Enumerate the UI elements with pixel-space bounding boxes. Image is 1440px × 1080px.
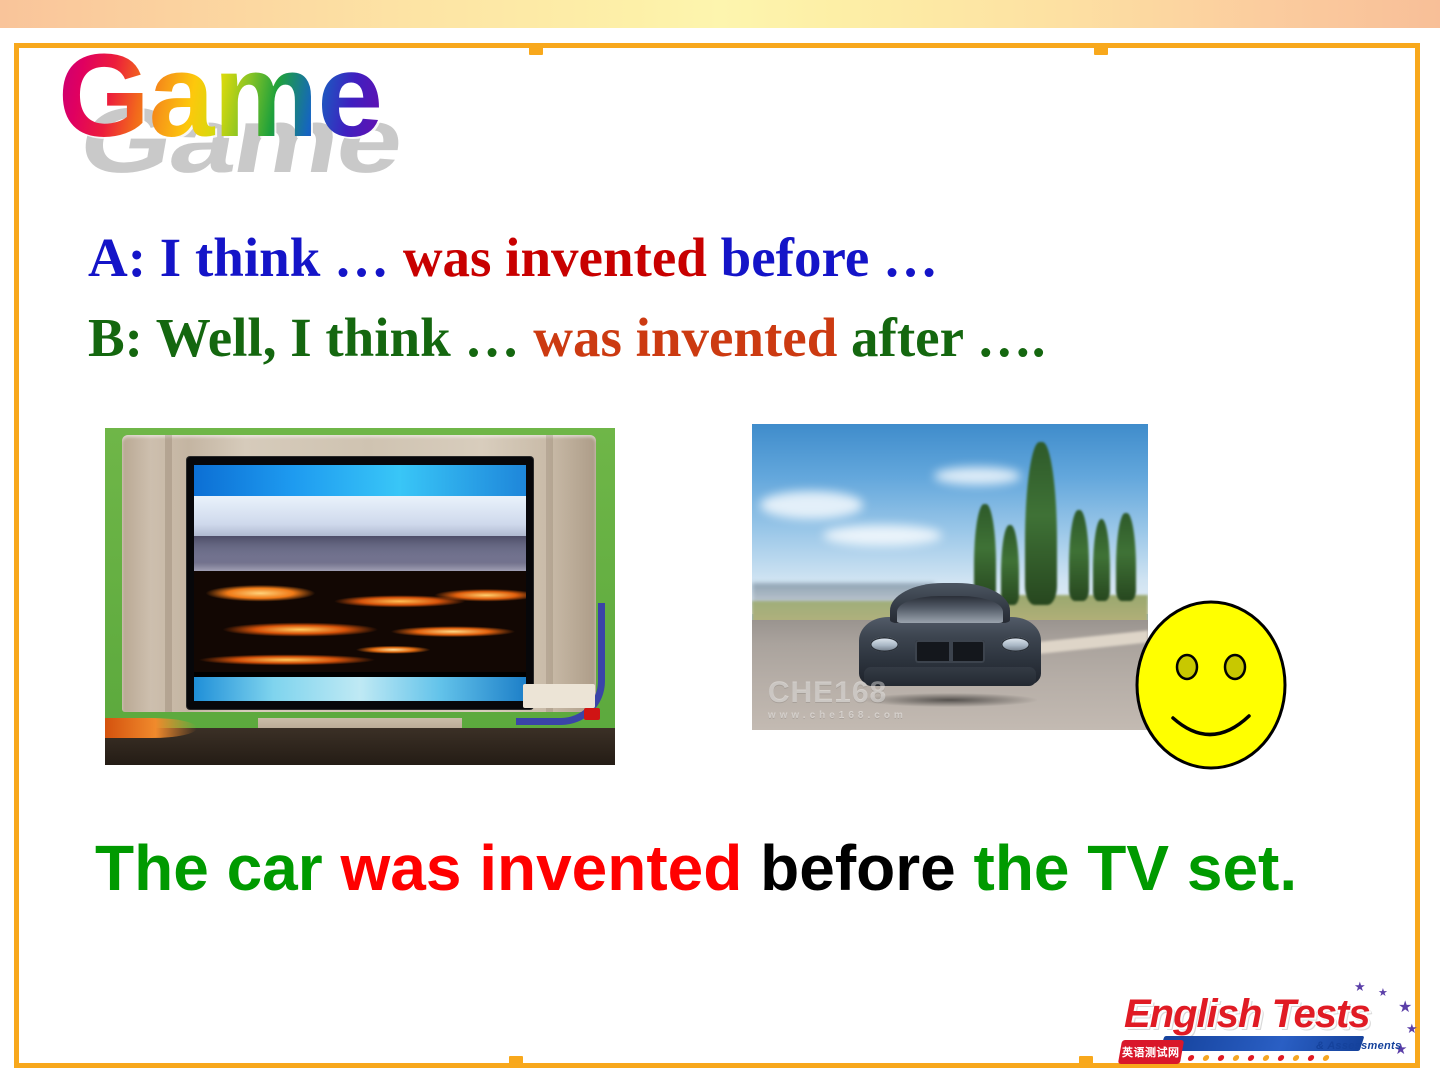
- screen-lava: [194, 571, 526, 672]
- tv-remote-control: [523, 684, 594, 708]
- tv-bezel: [187, 457, 534, 710]
- frame-tick-bottom-1: [509, 1056, 523, 1065]
- frame-tick-bottom-2: [1079, 1056, 1093, 1065]
- conclusion-part-3: before: [742, 832, 973, 904]
- smiley-face-icon: [1135, 600, 1287, 770]
- english-tests-logo: ★ ★ ★ ★ ★ English Tests & Assessments 英语…: [1110, 978, 1430, 1074]
- dialogue-line-b: B: Well, I think … was invented after ….: [88, 298, 1378, 378]
- tv-set-image: [105, 428, 615, 765]
- car-cloud-3: [934, 467, 1021, 485]
- line-a-tail: before …: [707, 227, 938, 288]
- car-kidney-grille: [915, 640, 984, 663]
- screen-mountains: [194, 536, 526, 574]
- conclusion-part-4: the TV set.: [974, 832, 1298, 904]
- frame-tick-top-2: [1094, 46, 1108, 55]
- conclusion-sentence: The car was invented before the TV set.: [95, 826, 1325, 910]
- car-windshield: [897, 596, 1003, 622]
- line-a-verb: was invented: [403, 227, 707, 288]
- logo-star-2: ★: [1378, 988, 1388, 999]
- screen-bottom-bar: [194, 677, 526, 701]
- conclusion-part-1: The car: [95, 832, 340, 904]
- tv-screen: [194, 465, 526, 700]
- logo-seal-badge: 英语测试网: [1118, 1040, 1184, 1064]
- screen-top-bar: [194, 465, 526, 496]
- tv-orange-cord: [105, 718, 197, 738]
- top-decorative-strip: [0, 0, 1440, 28]
- cypress-tree-3: [1025, 442, 1057, 604]
- watermark-brand: CHE168: [768, 678, 907, 708]
- line-b-tail: after ….: [837, 307, 1045, 368]
- tv-red-button: [584, 708, 599, 720]
- dialogue-block: A: I think … was invented before … B: We…: [88, 218, 1378, 378]
- page-title: Game Game: [58, 28, 488, 163]
- logo-badge-text: 英语测试网: [1122, 1044, 1180, 1060]
- watermark-url: www.che168.com: [768, 711, 907, 721]
- car-image: CHE168 www.che168.com: [752, 424, 1148, 730]
- title-rainbow-text: Game: [58, 28, 382, 164]
- logo-star-4: ★: [1406, 1022, 1418, 1035]
- car-cloud-1: [760, 491, 863, 519]
- line-b-speaker: B: Well, I think …: [88, 307, 533, 368]
- line-a-speaker: A: I think …: [88, 227, 403, 288]
- frame-tick-top-1: [529, 46, 543, 55]
- car-watermark: CHE168 www.che168.com: [768, 678, 907, 721]
- conclusion-part-2: was invented: [340, 832, 742, 904]
- logo-dot-row: [1156, 1052, 1375, 1064]
- logo-tagline: & Assessments: [1316, 1040, 1401, 1052]
- logo-brand-text: English Tests: [1124, 992, 1370, 1037]
- line-b-verb: was invented: [533, 307, 837, 368]
- cypress-tree-4: [1069, 510, 1089, 602]
- dialogue-line-a: A: I think … was invented before …: [88, 218, 1378, 298]
- logo-star-3: ★: [1398, 1000, 1412, 1016]
